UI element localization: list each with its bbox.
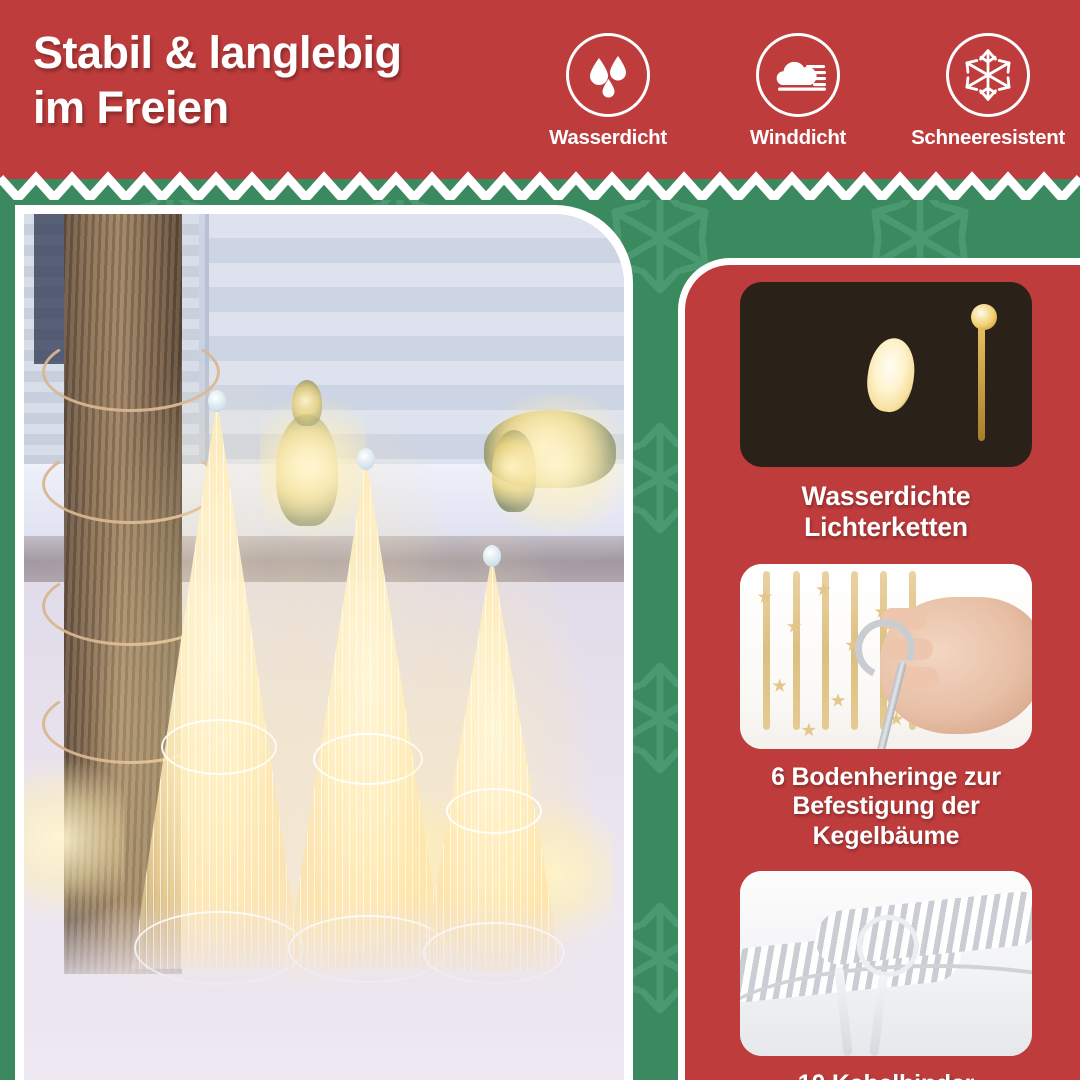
main-product-photo [24,214,624,1080]
feature-badge-label: Schneeresistent [911,126,1065,150]
feature-card-waterproof-image [740,282,1032,467]
wind-cloud-icon [770,51,826,99]
page-title: Stabil & langlebig im Freien [33,26,533,136]
feature-card-caption: 6 Bodenheringe zur Befestigung der Kegel… [740,763,1032,852]
feature-badge-snowresistant: Schneeresistent [900,33,1076,150]
title-line-1: Stabil & langlebig [33,27,402,78]
snowflake-icon [960,47,1016,103]
water-drops-icon [581,48,635,102]
feature-badges: Wasserdicht Winddicht [520,33,1076,173]
title-line-2: im Freien [33,81,533,136]
feature-badge-circle [946,33,1030,117]
feature-badge-label: Wasserdicht [549,126,667,150]
main-photo-frame [15,205,633,1080]
infographic-root: Stabil & langlebig im Freien Wasserdicht [0,0,1080,1080]
feature-badge-windproof: Winddicht [710,33,886,150]
feature-card-caption: Wasserdichte Lichterketten [740,481,1032,544]
zigzag-divider [0,160,1080,200]
header-banner: Stabil & langlebig im Freien Wasserdicht [0,0,1080,182]
feature-badge-label: Winddicht [750,126,846,150]
feature-badge-waterproof: Wasserdicht [520,33,696,150]
feature-badge-circle [756,33,840,117]
feature-cards-list: Wasserdichte Lichterketten 6 Bodenhering… [740,282,1032,1080]
feature-card-stakes-image [740,564,1032,749]
feature-badge-circle [566,33,650,117]
feature-card-cableties-image [740,871,1032,1056]
feature-card-caption: 10 Kabelbinder gewährleisten eine feste … [740,1070,1032,1080]
